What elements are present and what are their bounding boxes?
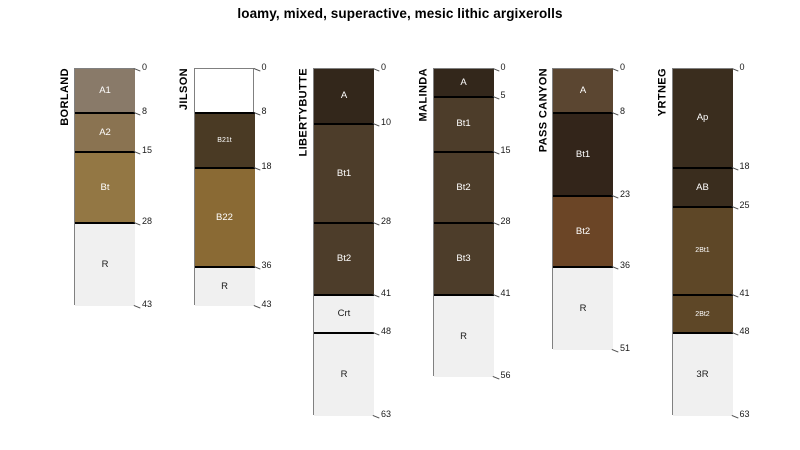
depth-tick-label: 28	[381, 216, 391, 226]
horizon-label: Bt2	[576, 227, 590, 237]
depth-tick-label: 0	[740, 62, 745, 72]
horizon-label: 2Bt2	[695, 311, 709, 318]
profile-name-label: JILSON	[179, 68, 191, 110]
horizon-label: A1	[219, 86, 231, 96]
depth-tick-label: 8	[262, 106, 267, 116]
horizon-label: Bt1	[456, 119, 470, 129]
horizon-block[interactable]: R	[434, 295, 494, 378]
depth-tick-label: 0	[501, 62, 506, 72]
depth-tick-label: 41	[381, 288, 391, 298]
horizon-label: R	[580, 304, 587, 314]
horizon-label: A1	[99, 86, 111, 96]
profile-column: ABt1Bt2CrtR	[313, 68, 373, 415]
horizon-block[interactable]: A2	[75, 113, 135, 152]
depth-tick-label: 18	[740, 161, 750, 171]
horizon-label: B21t	[217, 137, 231, 144]
horizon-block[interactable]: R	[314, 333, 374, 416]
horizon-block[interactable]: B21t	[195, 113, 255, 168]
horizon-label: Bt	[101, 183, 110, 193]
horizon-label: Bt1	[337, 169, 351, 179]
depth-tick-label: 41	[501, 288, 511, 298]
profile-name-label: PASS CANYON	[537, 68, 549, 152]
horizon-label: R	[221, 282, 228, 292]
soil-profile-borland[interactable]: BORLANDA1A2BtR08152843	[74, 68, 134, 305]
horizon-label: B22	[216, 213, 233, 223]
depth-tick-label: 48	[740, 326, 750, 336]
profile-name-label: MALINDA	[418, 68, 430, 122]
depth-tick-label: 43	[262, 299, 272, 309]
horizon-block[interactable]: Bt1	[434, 97, 494, 152]
horizon-block[interactable]: Bt2	[553, 196, 613, 268]
soil-profile-pass-canyon[interactable]: PASS CANYONABt1Bt2R08233651	[552, 68, 612, 349]
horizon-label: A	[460, 78, 466, 88]
soil-profile-plot: loamy, mixed, superactive, mesic lithic …	[0, 0, 800, 450]
horizon-block[interactable]: Bt1	[553, 113, 613, 196]
depth-tick-line	[373, 415, 380, 419]
depth-tick-label: 28	[142, 216, 152, 226]
horizon-block[interactable]: Bt3	[434, 223, 494, 295]
soil-profile-yrtneg[interactable]: YRTNEGApAB2Bt12Bt23R01825414863	[672, 68, 732, 415]
profile-column: A1B21tB22R	[194, 68, 254, 305]
depth-tick-label: 23	[620, 189, 630, 199]
depth-tick-label: 36	[262, 260, 272, 270]
horizon-block[interactable]: 2Bt1	[673, 207, 733, 295]
horizon-block[interactable]: A1	[195, 69, 255, 113]
depth-tick-label: 0	[381, 62, 386, 72]
horizon-label: A2	[99, 128, 111, 138]
profile-name-label: YRTNEG	[657, 68, 669, 116]
horizon-block[interactable]: A	[434, 69, 494, 97]
depth-tick-label: 28	[501, 216, 511, 226]
depth-tick-line	[492, 376, 499, 380]
horizon-label: Ap	[697, 113, 709, 123]
horizon-label: R	[102, 260, 109, 270]
horizon-label: Bt3	[456, 254, 470, 264]
horizon-label: A	[580, 86, 586, 96]
depth-tick-label: 48	[381, 326, 391, 336]
horizon-block[interactable]: Bt	[75, 152, 135, 224]
horizon-block[interactable]: Bt2	[434, 152, 494, 224]
horizon-block[interactable]: A1	[75, 69, 135, 113]
depth-tick-label: 0	[262, 62, 267, 72]
depth-tick-label: 8	[142, 106, 147, 116]
soil-profile-jilson[interactable]: JILSONA1B21tB22R08183643	[194, 68, 254, 305]
soil-profile-libertybutte[interactable]: LIBERTYBUTTEABt1Bt2CrtR01028414863	[313, 68, 373, 415]
horizon-block[interactable]: R	[553, 267, 613, 350]
depth-tick-line	[253, 305, 260, 309]
soil-profile-malinda[interactable]: MALINDAABt1Bt2Bt3R0515284156	[433, 68, 493, 376]
horizon-block[interactable]: 2Bt2	[673, 295, 733, 334]
depth-tick-label: 41	[740, 288, 750, 298]
horizon-block[interactable]: Ap	[673, 69, 733, 168]
horizon-block[interactable]: AB	[673, 168, 733, 207]
profile-column: A1A2BtR	[74, 68, 134, 305]
horizon-label: R	[341, 370, 348, 380]
depth-tick-label: 56	[501, 370, 511, 380]
horizon-label: R	[460, 332, 467, 342]
horizon-block[interactable]: Bt1	[314, 124, 374, 223]
page-title: loamy, mixed, superactive, mesic lithic …	[0, 6, 800, 21]
depth-tick-label: 18	[262, 161, 272, 171]
depth-tick-label: 63	[381, 409, 391, 419]
depth-tick-label: 5	[501, 90, 506, 100]
horizon-block[interactable]: Bt2	[314, 223, 374, 295]
depth-tick-label: 25	[740, 200, 750, 210]
horizon-block[interactable]: B22	[195, 168, 255, 267]
horizon-label: Bt1	[576, 150, 590, 160]
horizon-block[interactable]: A	[314, 69, 374, 124]
depth-tick-label: 15	[501, 145, 511, 155]
depth-tick-label: 15	[142, 145, 152, 155]
horizon-block[interactable]: R	[75, 223, 135, 306]
depth-tick-line	[612, 349, 619, 353]
profile-column: ABt1Bt2R	[552, 68, 612, 349]
depth-tick-label: 36	[620, 260, 630, 270]
horizon-block[interactable]: Crt	[314, 295, 374, 334]
horizon-label: A	[341, 91, 347, 101]
horizon-label: AB	[696, 183, 709, 193]
profile-column: ABt1Bt2Bt3R	[433, 68, 493, 376]
horizon-label: 3R	[696, 370, 708, 380]
profile-column: ApAB2Bt12Bt23R	[672, 68, 732, 415]
depth-tick-label: 10	[381, 117, 391, 127]
horizon-block[interactable]: R	[195, 267, 255, 306]
horizon-label: Crt	[338, 309, 351, 319]
horizon-label: Bt2	[337, 254, 351, 264]
depth-tick-line	[134, 305, 141, 309]
depth-tick-label: 63	[740, 409, 750, 419]
depth-tick-label: 43	[142, 299, 152, 309]
horizon-block[interactable]: A	[553, 69, 613, 113]
horizon-block[interactable]: 3R	[673, 333, 733, 416]
depth-tick-label: 8	[620, 106, 625, 116]
depth-tick-label: 0	[142, 62, 147, 72]
horizon-label: 2Bt1	[695, 247, 709, 254]
profile-name-label: LIBERTYBUTTE	[298, 68, 310, 157]
depth-tick-label: 0	[620, 62, 625, 72]
horizon-label: Bt2	[456, 183, 470, 193]
depth-tick-label: 51	[620, 343, 630, 353]
profile-name-label: BORLAND	[59, 68, 71, 126]
depth-tick-line	[731, 415, 738, 419]
